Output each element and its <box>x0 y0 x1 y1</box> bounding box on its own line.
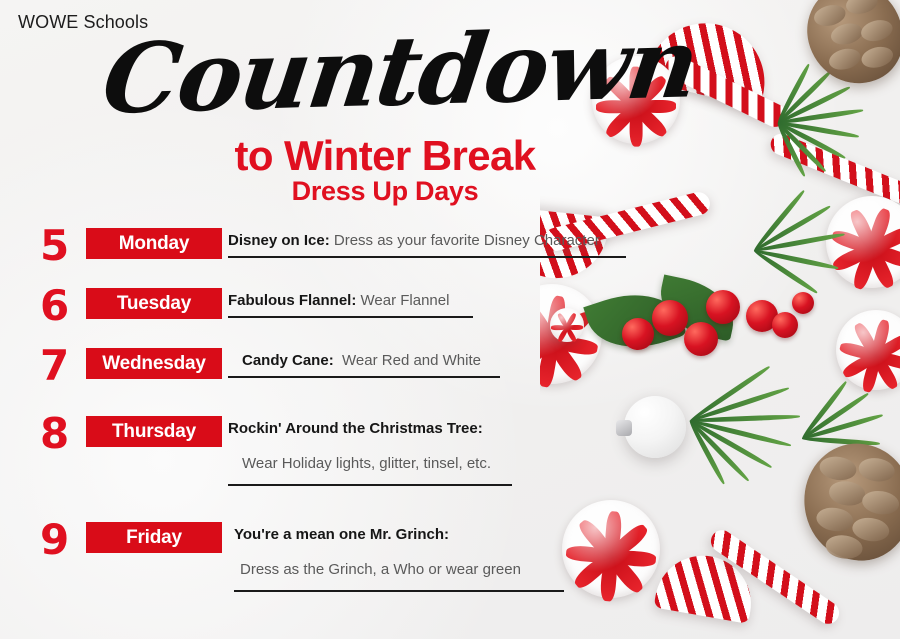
page-subtitle: to Winter Break <box>95 132 675 180</box>
peppermint-candy-icon <box>562 500 660 598</box>
day-description: Disney on Ice: Dress as your favorite Di… <box>228 230 600 252</box>
day-theme: Rockin' Around the Christmas Tree: <box>228 420 483 437</box>
day-description-line: Candy Cane: Wear Red and White <box>228 350 481 372</box>
day-theme: Candy Cane: <box>242 352 334 369</box>
row-underline <box>228 484 512 486</box>
row-underline <box>228 376 500 378</box>
pine-cone-icon <box>796 437 900 567</box>
day-badge-thursday: Thursday <box>86 416 222 447</box>
row-underline <box>228 256 626 258</box>
day-number: 6 <box>40 285 69 327</box>
holly-berry-icon <box>622 318 654 350</box>
page-title-script: Countdown <box>98 16 673 128</box>
holly-berry-icon <box>792 292 814 314</box>
day-detail: Dress as your favorite Disney Character <box>334 232 600 249</box>
day-badge-tuesday: Tuesday <box>86 288 222 319</box>
day-description-line: You're a mean one Mr. Grinch: <box>234 524 521 546</box>
day-theme: Fabulous Flannel: <box>228 292 356 309</box>
peppermint-candy-icon <box>550 308 584 342</box>
day-badge-friday: Friday <box>86 522 222 553</box>
day-theme: You're a mean one Mr. Grinch: <box>234 526 449 543</box>
day-description: Rockin' Around the Christmas Tree: Wear … <box>228 418 491 475</box>
day-number: 7 <box>40 345 69 387</box>
poster-canvas: WOWE Schools Countdown to Winter Break D… <box>0 0 900 639</box>
day-number: 8 <box>40 413 69 455</box>
page-subtitle-secondary: Dress Up Days <box>95 176 675 207</box>
white-ornament-icon <box>624 396 686 458</box>
day-detail: Dress as the Grinch, a Who or wear green <box>240 561 521 578</box>
day-description-line: Dress as the Grinch, a Who or wear green <box>234 559 521 581</box>
day-description: You're a mean one Mr. Grinch: Dress as t… <box>234 524 521 581</box>
day-description: Candy Cane: Wear Red and White <box>228 350 481 372</box>
row-underline <box>228 316 473 318</box>
day-description-line: Disney on Ice: Dress as your favorite Di… <box>228 230 600 252</box>
holly-berry-icon <box>652 300 688 336</box>
day-badge-monday: Monday <box>86 228 222 259</box>
day-detail: Wear Holiday lights, glitter, tinsel, et… <box>242 455 491 472</box>
day-badge-wednesday: Wednesday <box>86 348 222 379</box>
day-detail: Wear Flannel <box>361 292 450 309</box>
pine-sprig-icon <box>802 436 803 437</box>
peppermint-candy-icon <box>836 310 900 390</box>
row-underline <box>234 590 564 592</box>
pine-sprig-icon <box>778 120 779 121</box>
day-description: Fabulous Flannel: Wear Flannel <box>228 290 449 312</box>
holly-berry-icon <box>772 312 798 338</box>
day-description-line: Wear Holiday lights, glitter, tinsel, et… <box>228 453 491 475</box>
pine-sprig-icon <box>754 248 755 249</box>
peppermint-candy-icon <box>826 196 900 288</box>
day-number: 5 <box>40 225 69 267</box>
holly-berry-icon <box>684 322 718 356</box>
pine-cone-icon <box>797 0 900 94</box>
day-number: 9 <box>40 519 69 561</box>
pine-sprig-icon <box>690 418 691 419</box>
day-theme: Disney on Ice: <box>228 232 330 249</box>
day-detail: Wear Red and White <box>342 352 481 369</box>
day-description-line: Rockin' Around the Christmas Tree: <box>228 418 491 440</box>
day-description-line: Fabulous Flannel: Wear Flannel <box>228 290 449 312</box>
holly-berry-icon <box>706 290 740 324</box>
